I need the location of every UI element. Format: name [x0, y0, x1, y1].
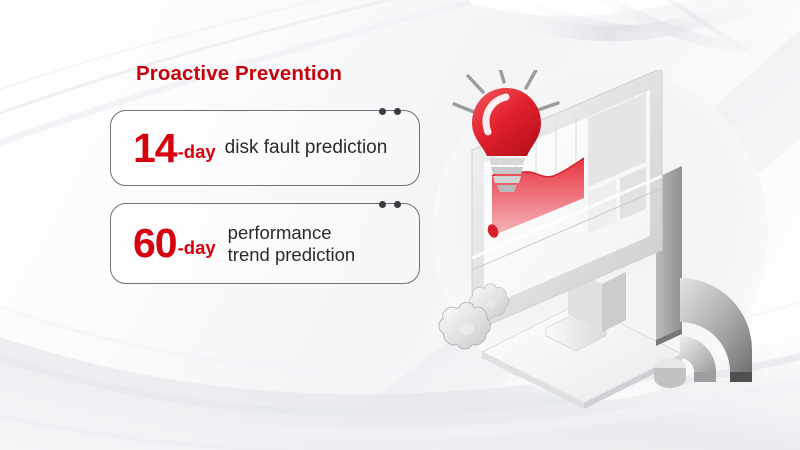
card-description: disk fault prediction: [225, 137, 388, 159]
card-number: 60: [133, 224, 177, 263]
page-title: Proactive Prevention: [136, 62, 342, 86]
slide-root: Proactive Prevention 14 -day disk fault …: [0, 0, 800, 450]
gear-large: [439, 302, 490, 349]
card-dot-icon: [394, 108, 401, 115]
card-unit: -day: [178, 237, 216, 259]
prediction-card-performance-trend[interactable]: 60 -day performance trend prediction: [110, 203, 420, 284]
gears-icon: [439, 284, 509, 349]
card-description: performance trend prediction: [228, 222, 356, 266]
card-dot-icon: [379, 201, 386, 208]
card-dot-icon: [394, 201, 401, 208]
prediction-card-disk-fault[interactable]: 14 -day disk fault prediction: [110, 110, 420, 186]
card-number: 14: [133, 129, 177, 168]
card-unit: -day: [178, 141, 216, 163]
card-dot-icon: [379, 108, 386, 115]
illustration-group: [420, 70, 800, 410]
